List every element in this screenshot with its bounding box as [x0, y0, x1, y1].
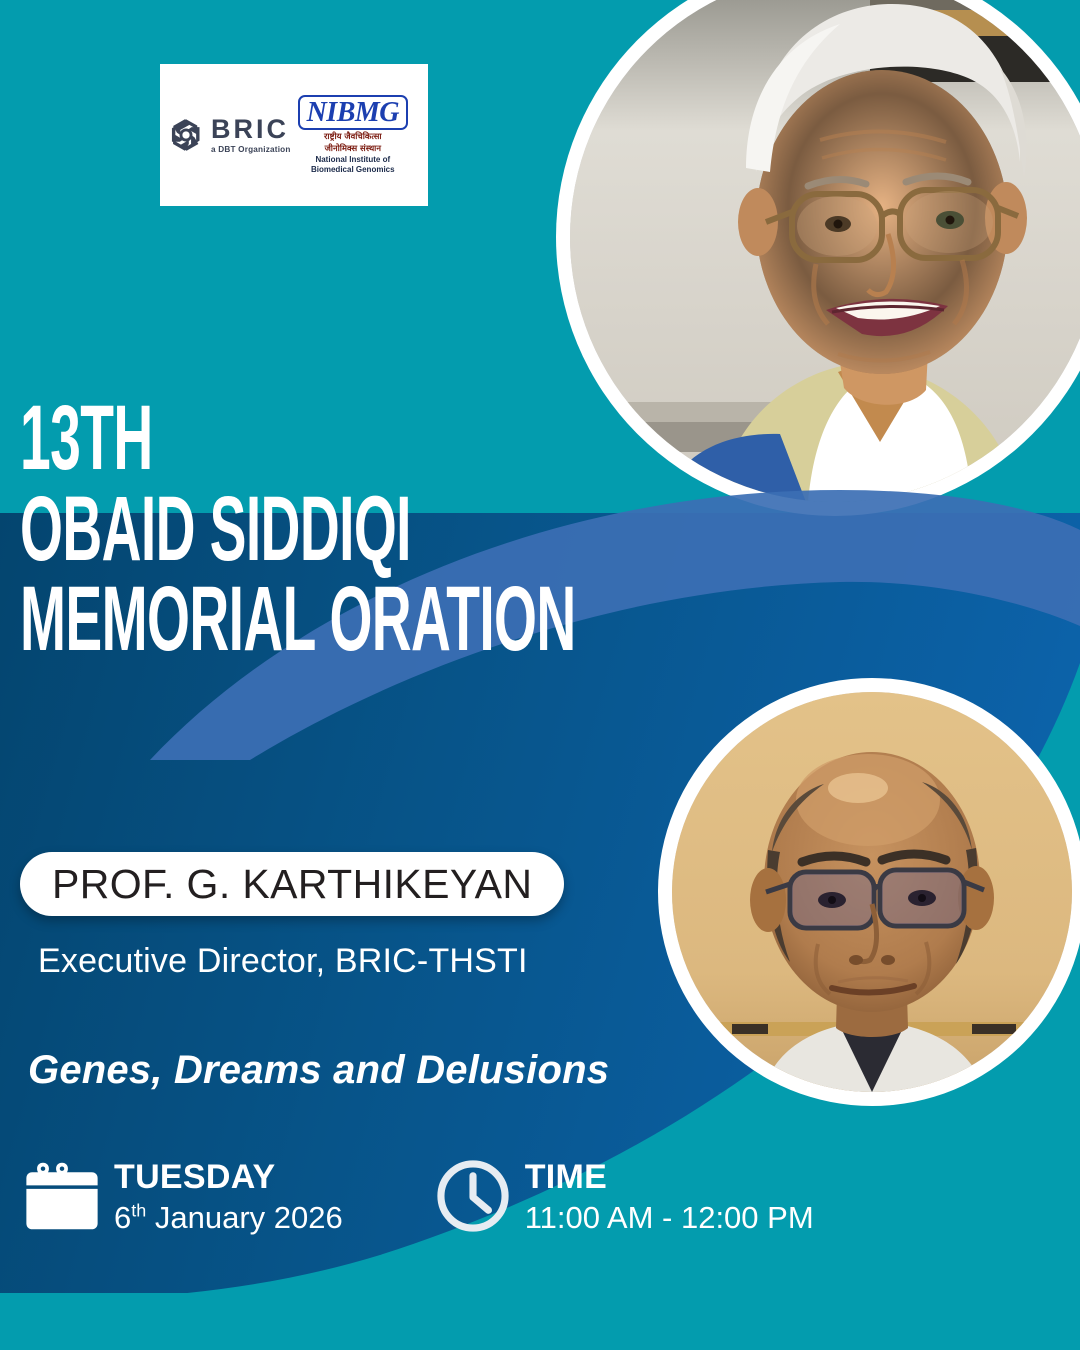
nibmg-wordmark-box: NIBMG	[298, 95, 408, 130]
event-poster: BRIC a DBT Organization NIBMG राष्ट्रीय …	[0, 0, 1080, 1350]
event-day-ordinal: th	[131, 1200, 146, 1220]
talk-title: Genes, Dreams and Delusions	[28, 1048, 609, 1093]
nibmg-english-line-1: National Institute of	[315, 155, 390, 165]
speaker-designation: Executive Director, BRIC-THSTI	[38, 942, 528, 981]
bric-wordmark: BRIC	[211, 116, 289, 143]
nibmg-wordmark: NIBMG	[307, 99, 399, 127]
event-date-item: TUESDAY 6th January 2026	[24, 1158, 343, 1236]
calendar-icon	[24, 1158, 100, 1234]
clock-icon	[435, 1158, 511, 1234]
poster-headline: 13TH OBAID SIDDIQI MEMORIAL ORATION	[20, 396, 760, 662]
bric-logo: BRIC a DBT Organization	[168, 116, 292, 154]
speaker-name-pill: PROF. G. KARTHIKEYAN	[20, 852, 564, 916]
speaker-name: PROF. G. KARTHIKEYAN	[52, 861, 532, 908]
event-time-label: TIME	[525, 1160, 814, 1196]
nibmg-english-line-2: Biomedical Genomics	[311, 165, 395, 175]
portrait-g-karthikeyan	[672, 692, 1072, 1092]
headline-line-3: MEMORIAL ORATION	[20, 577, 464, 662]
nibmg-hindi-line-1: राष्ट्रीय जैवचिकित्सा	[324, 132, 382, 142]
event-time-value: 11:00 AM - 12:00 PM	[525, 1199, 814, 1236]
nibmg-logo: NIBMG राष्ट्रीय जैवचिकित्सा जीनोमिक्स सं…	[298, 95, 408, 175]
bric-hexagon-mark	[168, 117, 204, 153]
event-date-value: 6th January 2026	[114, 1199, 343, 1236]
organization-logo-card: BRIC a DBT Organization NIBMG राष्ट्रीय …	[160, 64, 428, 206]
event-day-label: TUESDAY	[114, 1160, 343, 1196]
bric-tagline: a DBT Organization	[211, 146, 292, 154]
event-day-number: 6	[114, 1200, 131, 1235]
headline-line-1: 13TH	[20, 396, 464, 481]
event-time-item: TIME 11:00 AM - 12:00 PM	[435, 1158, 814, 1236]
nibmg-hindi-line-2: जीनोमिक्स संस्थान	[325, 144, 381, 154]
event-details-row: TUESDAY 6th January 2026 TIME 11:00 AM -…	[24, 1158, 814, 1236]
headline-line-2: OBAID SIDDIQI	[20, 487, 464, 572]
event-month-year: January 2026	[146, 1200, 342, 1235]
